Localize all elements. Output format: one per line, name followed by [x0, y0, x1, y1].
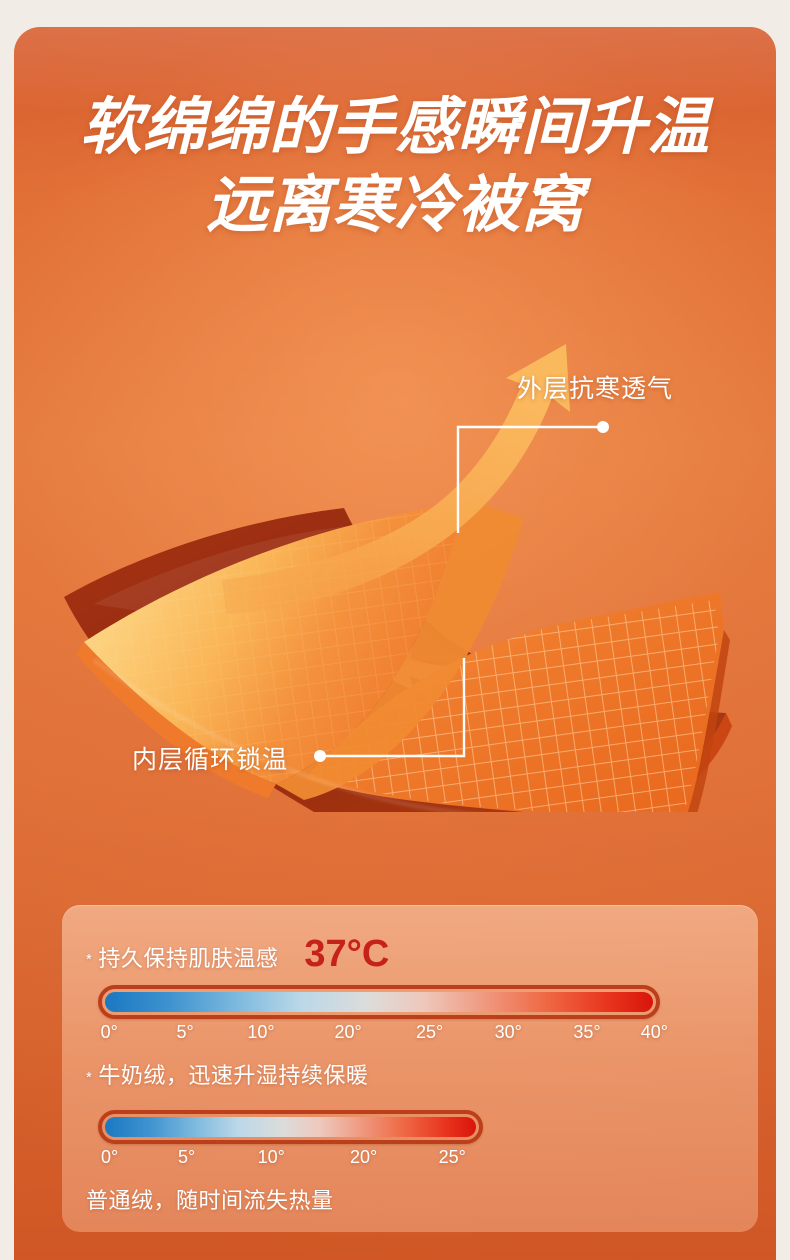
- tick-20: 20°: [334, 1022, 361, 1043]
- page-title: 软绵绵的手感瞬间升温 远离寒冷被窝: [14, 89, 776, 245]
- milk-fleece-bar-scale: 0° 5° 10° 20° 25° 30° 35° 40°: [98, 1022, 660, 1048]
- milk-fleece-bar-track: [98, 985, 660, 1019]
- headline-line-2: 远离寒冷被窝: [14, 167, 776, 245]
- callout-inner-leader-line: [304, 642, 474, 772]
- callout-inner-layer: 内层循环锁温: [132, 745, 288, 775]
- tick-10: 10°: [247, 1022, 274, 1043]
- ordinary-fleece-temperature-bar: 0° 5° 10° 20° 25°: [98, 1110, 483, 1173]
- tick-35: 35°: [573, 1022, 600, 1043]
- row-skin-warmth: * 持久保持肌肤温感 37°C: [86, 935, 389, 978]
- milk-fleece-bar-gradient: [105, 992, 653, 1012]
- temperature-info-card: * 持久保持肌肤温感 37°C 0° 5° 10° 20° 25° 30° 35…: [62, 905, 758, 1232]
- ordinary-fleece-bar-scale: 0° 5° 10° 20° 25°: [98, 1147, 483, 1173]
- tick-25: 25°: [439, 1147, 466, 1168]
- tick-0: 0°: [101, 1147, 118, 1168]
- callout-outer-label: 外层抗寒透气: [517, 375, 673, 403]
- callout-outer-layer: 外层抗寒透气: [517, 374, 673, 404]
- tick-20: 20°: [350, 1147, 377, 1168]
- row-milk-fleece: * 牛奶绒，迅速升湿持续保暖: [86, 1058, 368, 1090]
- callout-outer-leader-line: [454, 415, 624, 545]
- product-detail-page: 软绵绵的手感瞬间升温 远离寒冷被窝: [0, 0, 790, 1260]
- row-ordinary-fleece: 普通绒，随时间流失热量: [86, 1183, 334, 1215]
- headline-line-1: 软绵绵的手感瞬间升温: [14, 89, 776, 167]
- milk-fleece-temperature-bar: 0° 5° 10° 20° 25° 30° 35° 40°: [98, 985, 660, 1048]
- tick-5: 5°: [178, 1147, 195, 1168]
- ordinary-fleece-bar-track: [98, 1110, 483, 1144]
- bullet-star-icon: *: [86, 951, 92, 968]
- row-skin-warmth-label: 持久保持肌肤温感: [98, 941, 278, 973]
- tick-40: 40°: [641, 1022, 668, 1043]
- temperature-value: 37°C: [304, 933, 389, 976]
- row-ordinary-fleece-label: 普通绒，随时间流失热量: [86, 1183, 334, 1215]
- bullet-star-icon: *: [86, 1069, 92, 1086]
- callout-inner-label: 内层循环锁温: [132, 746, 288, 774]
- tick-10: 10°: [258, 1147, 285, 1168]
- row-milk-fleece-label: 牛奶绒，迅速升湿持续保暖: [98, 1058, 368, 1090]
- tick-25: 25°: [416, 1022, 443, 1043]
- ordinary-fleece-bar-gradient: [105, 1117, 476, 1137]
- tick-5: 5°: [177, 1022, 194, 1043]
- tick-0: 0°: [101, 1022, 118, 1043]
- tick-30: 30°: [495, 1022, 522, 1043]
- orange-panel: 软绵绵的手感瞬间升温 远离寒冷被窝: [14, 27, 776, 1260]
